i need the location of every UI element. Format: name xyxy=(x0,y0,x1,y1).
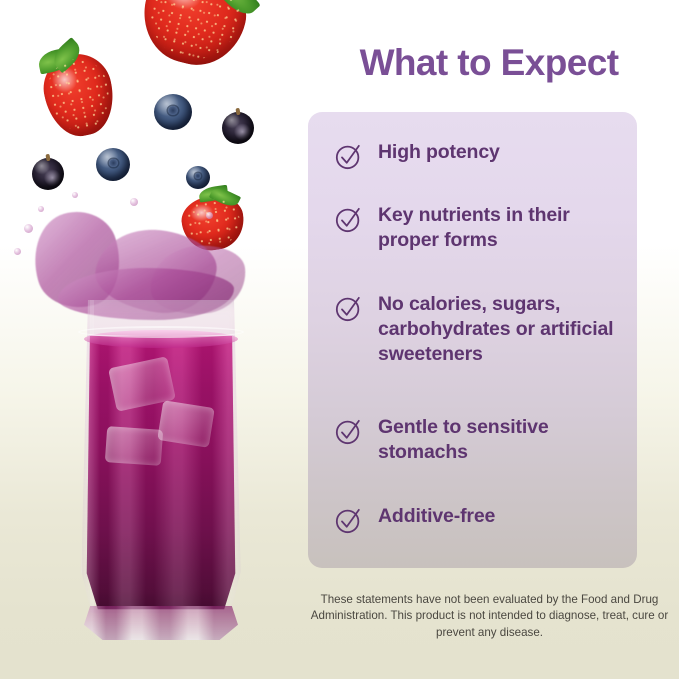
grape-icon xyxy=(32,158,64,190)
check-circle-icon xyxy=(334,416,364,446)
benefits-card: High potency Key nutrients in their prop… xyxy=(308,112,637,568)
glass-base xyxy=(84,606,238,640)
glass-rim xyxy=(78,326,244,338)
ice-cube xyxy=(157,400,215,448)
benefit-item: No calories, sugars, carbohydrates or ar… xyxy=(334,292,622,367)
grape-stem-icon xyxy=(45,154,50,162)
splash-droplet xyxy=(206,212,213,219)
content-column: What to Expect High potency Key nutrient… xyxy=(300,0,679,679)
check-circle-icon xyxy=(334,293,364,323)
benefit-label: High potency xyxy=(378,140,500,165)
check-circle-icon xyxy=(334,204,364,234)
page-title: What to Expect xyxy=(308,42,670,84)
fda-disclaimer: These statements have not been evaluated… xyxy=(300,592,679,641)
benefit-item: High potency xyxy=(334,140,622,171)
blueberry-icon xyxy=(96,148,130,181)
benefit-label: Additive-free xyxy=(378,504,495,529)
check-circle-icon xyxy=(334,141,364,171)
splash-droplet xyxy=(130,198,138,206)
strawberry-icon xyxy=(37,48,121,142)
splash-droplet xyxy=(14,248,21,255)
benefit-item: Additive-free xyxy=(334,504,622,535)
benefit-label: No calories, sugars, carbohydrates or ar… xyxy=(378,292,622,367)
ice-cube xyxy=(105,426,163,466)
grape-stem-icon xyxy=(235,108,240,116)
juice-glass xyxy=(72,300,250,640)
strawberry-leaf-icon xyxy=(212,0,261,21)
benefit-item: Gentle to sensitive stomachs xyxy=(334,415,622,465)
grape-icon xyxy=(222,112,254,144)
splash-droplet xyxy=(24,224,33,233)
product-infographic: What to Expect High potency Key nutrient… xyxy=(0,0,679,679)
product-imagery xyxy=(0,0,300,679)
splash-droplet xyxy=(72,192,78,198)
blueberry-icon xyxy=(186,166,210,189)
benefit-item: Key nutrients in their proper forms xyxy=(334,203,622,253)
check-circle-icon xyxy=(334,505,364,535)
strawberry-icon xyxy=(133,0,254,75)
benefit-label: Gentle to sensitive stomachs xyxy=(378,415,622,465)
splash-droplet xyxy=(38,206,44,212)
blueberry-icon xyxy=(154,94,192,130)
benefit-label: Key nutrients in their proper forms xyxy=(378,203,622,253)
